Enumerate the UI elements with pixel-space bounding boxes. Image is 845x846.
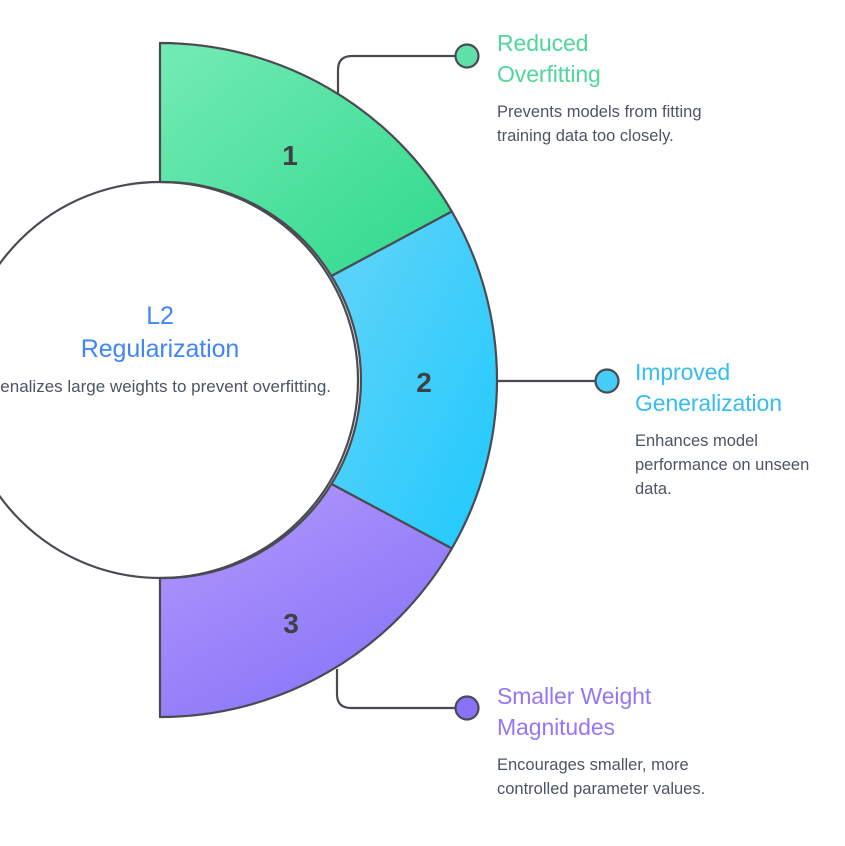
- connector-line-3: [337, 669, 455, 708]
- label-title-3: Smaller Weight Magnitudes: [497, 681, 747, 743]
- diagram-canvas: 1 2 3 L2 Regularization Penalizes large …: [0, 0, 845, 846]
- label-title-2-line-1: Improved: [635, 357, 845, 388]
- segment-number-3: 3: [283, 608, 299, 639]
- label-title-3-line-2: Magnitudes: [497, 712, 747, 743]
- segment-number-2: 2: [416, 367, 432, 398]
- connector-dot-3: [456, 697, 479, 720]
- label-description-3: Encourages smaller, more controlled para…: [497, 753, 712, 801]
- label-title-2-line-2: Generalization: [635, 388, 845, 419]
- label-block-smaller-weight-magnitudes[interactable]: Smaller Weight Magnitudes Encourages sma…: [497, 681, 747, 801]
- connector-dot-1: [456, 45, 479, 68]
- label-block-improved-generalization[interactable]: Improved Generalization Enhances model p…: [635, 357, 845, 501]
- label-title-3-line-1: Smaller Weight: [497, 681, 747, 712]
- label-title-2: Improved Generalization: [635, 357, 845, 419]
- connector-line-1: [338, 56, 455, 95]
- label-title-1: Reduced Overfitting: [497, 28, 747, 90]
- label-description-1: Prevents models from fitting training da…: [497, 100, 712, 148]
- label-title-1-line-1: Reduced: [497, 28, 747, 59]
- label-description-2: Enhances model performance on unseen dat…: [635, 429, 835, 501]
- segment-number-1: 1: [282, 140, 298, 171]
- label-title-1-line-2: Overfitting: [497, 59, 747, 90]
- connector-dot-2: [596, 370, 619, 393]
- label-block-reduced-overfitting[interactable]: Reduced Overfitting Prevents models from…: [497, 28, 747, 148]
